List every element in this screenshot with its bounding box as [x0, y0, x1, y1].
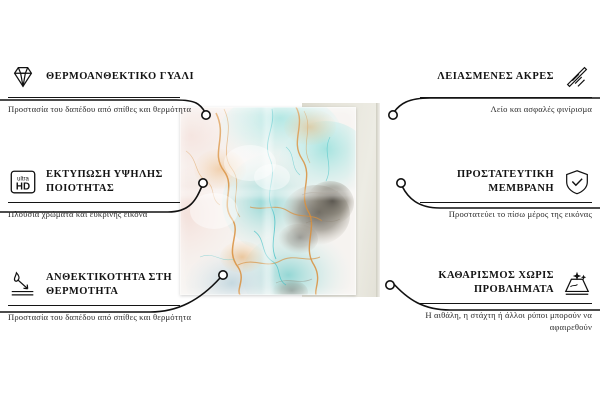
feature-heading: ΑΝΘΕΚΤΙΚΟΤΗΤΑ ΣΤΗ ΘΕΡΜΟΤΗΤΑ	[8, 270, 198, 300]
marble-print-artwork	[180, 107, 356, 295]
feature-title: ΠΡΟΣΤΑΤΕΥΤΙΚΗ ΜΕΜΒΡΑΝΗ	[402, 168, 554, 196]
feature-description: Προστασία του δαπέδου από σπίθες και θερ…	[8, 311, 198, 323]
feature-polished-edges: ΛΕΙΑΣΜΕΝΕΣ ΑΚΡΕΣ Λείο και ασφαλές φινίρι…	[402, 62, 592, 115]
diamond-icon	[8, 62, 38, 92]
divider	[8, 305, 180, 306]
feature-description: Πλούσια χρώματα και ευκρινής εικόνα	[8, 208, 198, 220]
feature-heat-resistant-glass: ΘΕΡΜΟΑΝΘΕΚΤΙΚΟ ΓΥΑΛΙ Προστασία του δαπέδ…	[8, 62, 198, 115]
feature-heading: ΛΕΙΑΣΜΕΝΕΣ ΑΚΡΕΣ	[402, 62, 592, 92]
feature-heat-durability: ΑΝΘΕΚΤΙΚΟΤΗΤΑ ΣΤΗ ΘΕΡΜΟΤΗΤΑ Προστασία το…	[8, 270, 198, 323]
feature-title: ΛΕΙΑΣΜΕΝΕΣ ΑΚΡΕΣ	[402, 70, 554, 84]
feature-description: Η αιθάλη, η στάχτη ή άλλοι ρύποι μπορούν…	[402, 309, 592, 333]
divider	[420, 303, 592, 304]
ultra-hd-large-label: HD	[16, 182, 30, 193]
feature-description: Προστατεύει το πίσω μέρος της εικόνας	[402, 208, 592, 220]
feature-heading: ΠΡΟΣΤΑΤΕΥΤΙΚΗ ΜΕΜΒΡΑΝΗ	[402, 167, 592, 197]
feature-protective-membrane: ΠΡΟΣΤΑΤΕΥΤΙΚΗ ΜΕΜΒΡΑΝΗ Προστατεύει το πί…	[402, 167, 592, 220]
polished-edges-icon	[562, 62, 592, 92]
feature-heading: ΚΑΘΑΡΙΣΜΟΣ ΧΩΡΙΣ ΠΡΟΒΛΗΜΑΤΑ	[402, 268, 592, 298]
feature-heading: ΘΕΡΜΟΑΝΘΕΚΤΙΚΟ ΓΥΑΛΙ	[8, 62, 198, 92]
feature-title: ΚΑΘΑΡΙΣΜΟΣ ΧΩΡΙΣ ΠΡΟΒΛΗΜΑΤΑ	[402, 269, 554, 297]
product-backing-edge	[376, 103, 380, 297]
marble-artwork-svg	[180, 107, 356, 295]
feature-easy-cleaning: ΚΑΘΑΡΙΣΜΟΣ ΧΩΡΙΣ ΠΡΟΒΛΗΜΑΤΑ Η αιθάλη, η …	[402, 268, 592, 333]
feature-heading: ultra HD ΕΚΤΥΠΩΣΗ ΥΨΗΛΗΣ ΠΟΙΟΤΗΤΑΣ	[8, 167, 198, 197]
feature-high-quality-print: ultra HD ΕΚΤΥΠΩΣΗ ΥΨΗΛΗΣ ΠΟΙΟΤΗΤΑΣ Πλούσ…	[8, 167, 198, 220]
ultra-hd-icon: ultra HD	[8, 167, 38, 197]
feature-title: ΑΝΘΕΚΤΙΚΟΤΗΤΑ ΣΤΗ ΘΕΡΜΟΤΗΤΑ	[46, 271, 198, 299]
shield-check-icon	[562, 167, 592, 197]
feature-title: ΘΕΡΜΟΑΝΘΕΚΤΙΚΟ ΓΥΑΛΙ	[46, 70, 198, 84]
divider	[420, 202, 592, 203]
divider	[8, 202, 180, 203]
feature-description: Λείο και ασφαλές φινίρισμα	[402, 103, 592, 115]
divider	[8, 97, 180, 98]
heat-resistance-icon	[8, 270, 38, 300]
glass-panel	[180, 107, 356, 295]
product-image	[180, 105, 410, 295]
feature-description: Προστασία του δαπέδου από σπίθες και θερ…	[8, 103, 198, 115]
infographic-canvas: ΘΕΡΜΟΑΝΘΕΚΤΙΚΟ ΓΥΑΛΙ Προστασία του δαπέδ…	[0, 0, 600, 400]
easy-clean-icon	[562, 268, 592, 298]
feature-title: ΕΚΤΥΠΩΣΗ ΥΨΗΛΗΣ ΠΟΙΟΤΗΤΑΣ	[46, 168, 198, 196]
divider	[420, 97, 592, 98]
